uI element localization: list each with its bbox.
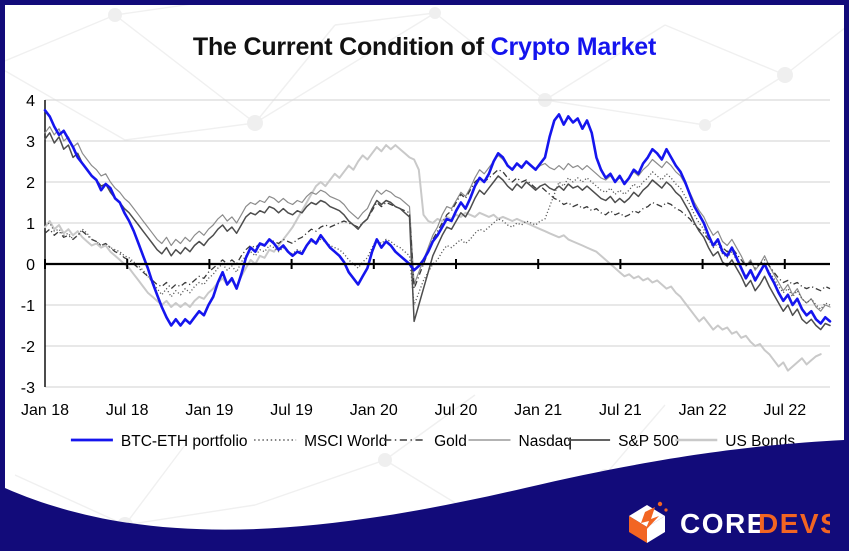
cube-logo-icon xyxy=(629,502,668,543)
chart-container: 43210-1-2-3Jan 18Jul 18Jan 19Jul 19Jan 2… xyxy=(5,83,844,423)
y-tick-label: 3 xyxy=(26,134,35,151)
logo-text-devs: DEVS xyxy=(758,508,830,539)
x-tick-label: Jul 19 xyxy=(270,402,313,419)
series-line xyxy=(45,170,830,291)
x-tick-label: Jan 21 xyxy=(514,402,562,419)
title-plain-text: The Current Condition of xyxy=(193,33,491,61)
x-tick-label: Jul 18 xyxy=(106,402,149,419)
x-tick-label: Jan 22 xyxy=(679,402,727,419)
x-tick-label: Jul 20 xyxy=(435,402,478,419)
y-tick-label: -1 xyxy=(21,298,35,315)
x-tick-label: Jan 19 xyxy=(185,402,233,419)
logo-text-core: CORE xyxy=(680,508,767,539)
x-tick-label: Jul 22 xyxy=(763,402,806,419)
y-tick-label: 4 xyxy=(26,93,35,110)
y-tick-label: -3 xyxy=(21,380,35,397)
x-tick-label: Jul 21 xyxy=(599,402,642,419)
infographic-root: The Current Condition of Crypto Market 4… xyxy=(0,0,849,551)
title-accent-text: Crypto Market xyxy=(491,33,657,61)
line-chart: 43210-1-2-3Jan 18Jul 18Jan 19Jul 19Jan 2… xyxy=(5,83,844,423)
y-tick-label: 0 xyxy=(26,257,35,274)
x-tick-label: Jan 20 xyxy=(350,402,398,419)
y-tick-label: 2 xyxy=(26,175,35,192)
y-tick-label: -2 xyxy=(21,339,35,356)
x-tick-label: Jan 18 xyxy=(21,402,69,419)
y-tick-label: 1 xyxy=(26,216,35,233)
page-title: The Current Condition of Crypto Market xyxy=(5,33,844,62)
core-devs-logo: CORE DEVS xyxy=(625,499,830,545)
